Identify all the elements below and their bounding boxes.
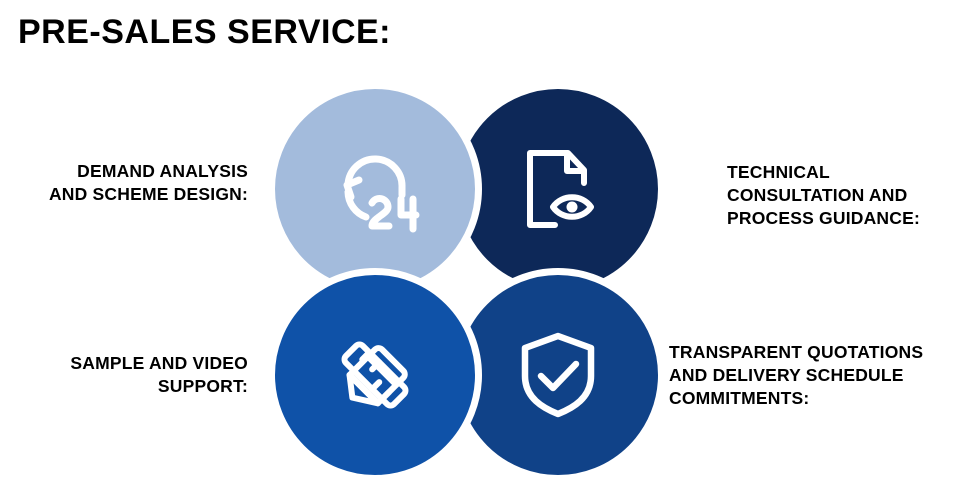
label-sample-video-support: SAMPLE AND VIDEO SUPPORT: <box>0 352 248 398</box>
document-eye-icon <box>508 139 608 239</box>
circle-transparent-quotations[interactable] <box>451 268 665 482</box>
circle-cluster <box>262 82 672 487</box>
circle-demand-analysis[interactable] <box>268 82 482 296</box>
shield-check-icon <box>507 324 609 426</box>
pencil-ruler-icon <box>323 323 427 427</box>
label-transparent-quotations: TRANSPARENT QUOTATIONS AND DELIVERY SCHE… <box>669 341 960 410</box>
page-title: PRE-SALES SERVICE: <box>18 14 391 51</box>
label-technical-consultation: TECHNICAL CONSULTATION AND PROCESS GUIDA… <box>727 161 957 230</box>
24-hour-rotate-icon <box>323 137 427 241</box>
circle-sample-video-support[interactable] <box>268 268 482 482</box>
label-demand-analysis: DEMAND ANALYSIS AND SCHEME DESIGN: <box>0 160 248 206</box>
circle-technical-consultation[interactable] <box>451 82 665 296</box>
